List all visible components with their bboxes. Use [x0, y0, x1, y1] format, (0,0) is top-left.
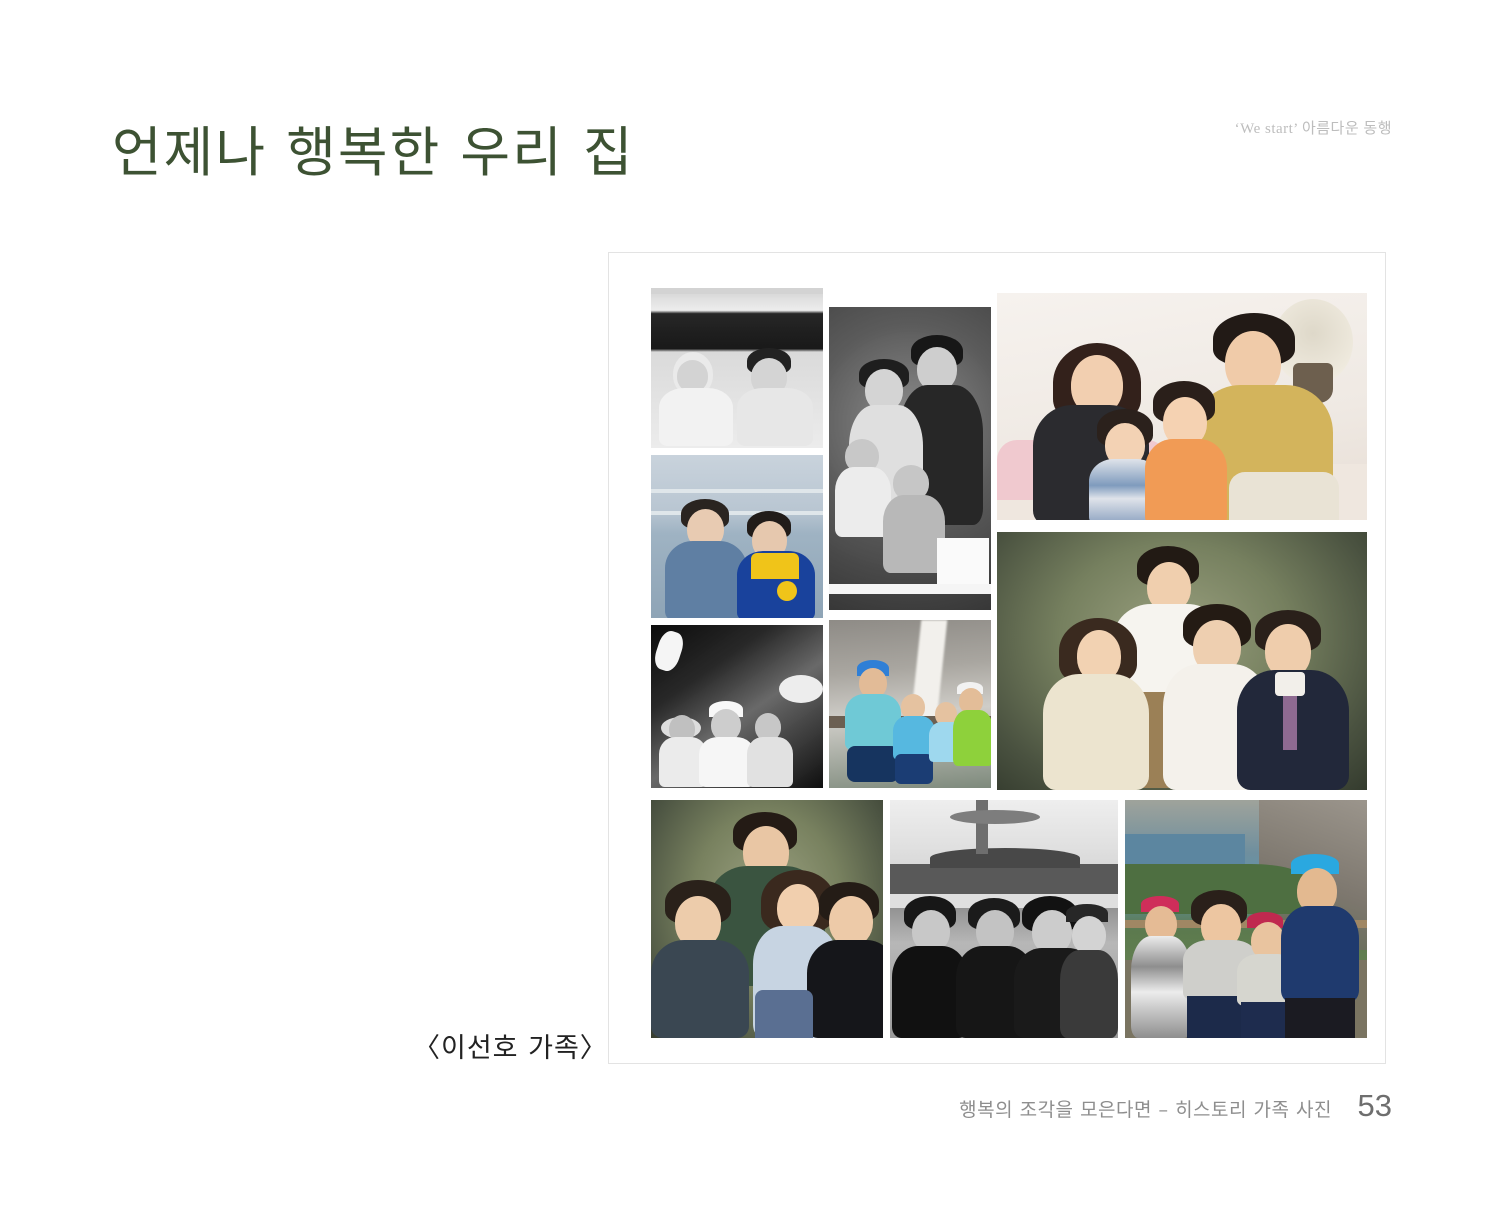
photo-waterfall: 컬러 - 폭포 앞에 선 아빠와 아이들	[829, 620, 991, 788]
footer-section-label: 행복의 조각을 모은다면 – 히스토리 가족 사진	[959, 1095, 1332, 1122]
photo-studio-formal: 컬러 - 정장 차림의 스튜디오 가족사진	[997, 532, 1367, 790]
photo-collage-frame: 흑백 - 아기 두 명이 나란히 누워 있는 사진 컬러 - 바닷가 난간 앞에…	[608, 252, 1386, 1064]
photo-china-trip-bw: 흑백 - 전통 건물 앞 여행 사진	[890, 800, 1118, 1038]
photo-babies-bw: 흑백 - 아기 두 명이 나란히 누워 있는 사진	[651, 288, 823, 448]
header-tagline: ‘We start’ 아름다운 동행	[1235, 117, 1392, 138]
photo-coast-hike: 컬러 - 해안 절벽 전망대에서의 가족 사진	[1125, 800, 1367, 1038]
photo-collage-grid: 흑백 - 아기 두 명이 나란히 누워 있는 사진 컬러 - 바닷가 난간 앞에…	[629, 280, 1367, 1038]
page-title: 언제나 행복한 우리 집	[112, 108, 635, 187]
photo-garden-bw: 흑백 - 식물원 나무 앞에 앉은 가족	[651, 625, 823, 788]
page-number: 53	[1358, 1088, 1392, 1124]
photo-brothers-harbor: 컬러 - 바닷가 난간 앞에 선 패딩 입은 두 형제	[651, 455, 823, 618]
collage-caption: 〈이선호 가족〉	[413, 1026, 608, 1065]
photo-studio-bw: 흑백 - 벤치에 앉은 네 식구 스튜디오 가족사진	[829, 307, 991, 610]
photo-studio-casual: 컬러 - 캐주얼 차림의 스튜디오 가족사진	[651, 800, 883, 1038]
photo-family-indoor: 컬러 - 실내에서 찍은 네 식구 가족사진	[997, 293, 1367, 520]
